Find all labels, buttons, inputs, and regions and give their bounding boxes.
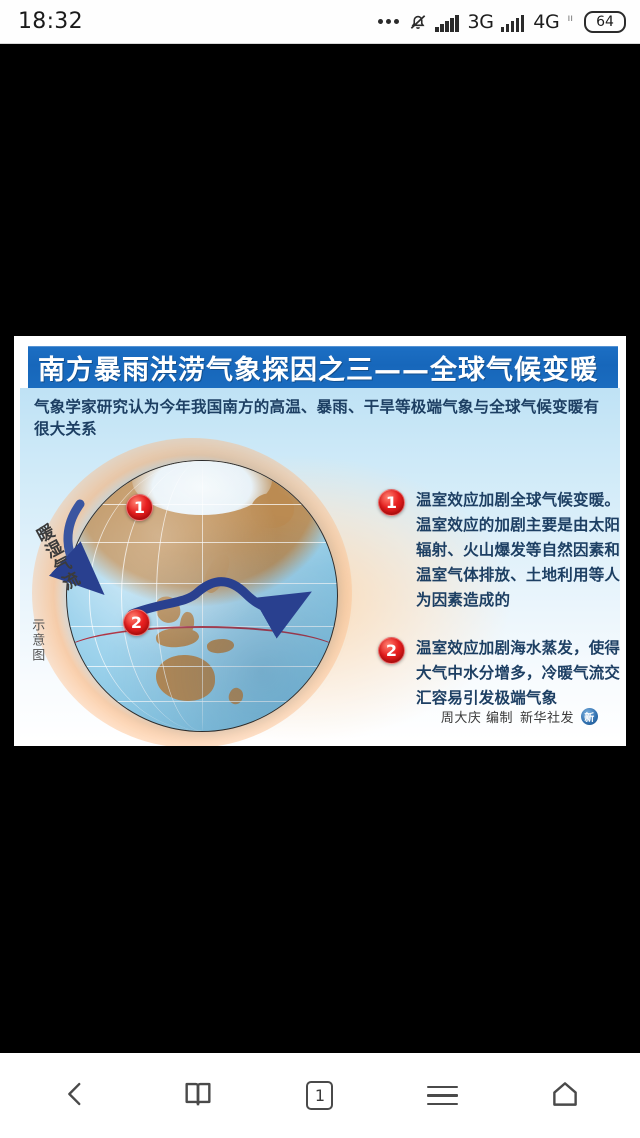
page-title: 南方暴雨洪涝气象探因之三——全球气候变暖 bbox=[38, 348, 598, 387]
battery-indicator: 64 bbox=[584, 11, 626, 33]
infographic-inner: 南方暴雨洪涝气象探因之三——全球气候变暖 气象学家研究认为今年我国南方的高温、暴… bbox=[20, 342, 620, 740]
globe-marker-2: 2 bbox=[123, 609, 150, 636]
chevron-left-icon bbox=[58, 1077, 92, 1115]
point-item: 1 温室效应加剧全球气候变暖。温室效应的加剧主要是由太阳辐射、火山爆发等自然因素… bbox=[378, 488, 626, 614]
schematic-label: 示意图 bbox=[28, 618, 44, 663]
infographic-title-banner: 南方暴雨洪涝气象探因之三——全球气候变暖 bbox=[28, 346, 618, 388]
point-number-badge: 2 bbox=[378, 637, 405, 664]
explanation-points: 1 温室效应加剧全球气候变暖。温室效应的加剧主要是由太阳辐射、火山爆发等自然因素… bbox=[378, 488, 626, 733]
network-type-1: 3G bbox=[468, 11, 494, 33]
credit-agency: 新华社发 bbox=[520, 707, 574, 726]
nav-tabs-button[interactable]: 1 bbox=[284, 1068, 356, 1124]
hamburger-menu-icon bbox=[427, 1086, 458, 1105]
status-bar-indicators: 3G 4G ıı 64 bbox=[378, 11, 626, 33]
status-bar: 18:32 3G 4G ıı 64 bbox=[0, 0, 640, 44]
book-open-icon bbox=[181, 1077, 215, 1115]
bell-muted-icon bbox=[408, 12, 428, 32]
point-item: 2 温室效应加剧海水蒸发，使得大气中水分增多，冷暖气流交汇容易引发极端气象 bbox=[378, 636, 626, 711]
network-sup-icon: ıı bbox=[567, 13, 573, 24]
more-dots-icon bbox=[378, 19, 399, 24]
xinhua-logo-icon: 新 bbox=[581, 708, 598, 725]
infographic-subtitle: 气象学家研究认为今年我国南方的高温、暴雨、干旱等极端气象与全球气候变暖有很大关系 bbox=[34, 396, 614, 441]
home-icon bbox=[548, 1077, 582, 1115]
airflow-arrows bbox=[50, 452, 350, 738]
point-text: 温室效应加剧海水蒸发，使得大气中水分增多，冷暖气流交汇容易引发极端气象 bbox=[416, 636, 626, 711]
page-content-area: 南方暴雨洪涝气象探因之三——全球气候变暖 气象学家研究认为今年我国南方的高温、暴… bbox=[0, 44, 640, 1053]
credit-author: 周大庆 编制 bbox=[441, 707, 513, 726]
nav-home-button[interactable] bbox=[529, 1068, 601, 1124]
globe-illustration bbox=[50, 452, 350, 738]
infographic-image[interactable]: 南方暴雨洪涝气象探因之三——全球气候变暖 气象学家研究认为今年我国南方的高温、暴… bbox=[14, 336, 626, 746]
point-text: 温室效应加剧全球气候变暖。温室效应的加剧主要是由太阳辐射、火山爆发等自然因素和温… bbox=[416, 488, 626, 614]
status-bar-clock: 18:32 bbox=[18, 9, 83, 34]
phone-screen: 18:32 3G 4G ıı 64 bbox=[0, 0, 640, 1138]
arrow-pacific-flow bbox=[132, 582, 290, 614]
credit-line: 周大庆 编制 新华社发 新 bbox=[441, 707, 598, 726]
nav-back-button[interactable] bbox=[39, 1068, 111, 1124]
nav-menu-button[interactable] bbox=[406, 1068, 478, 1124]
nav-bookmarks-button[interactable] bbox=[162, 1068, 234, 1124]
tab-count-icon: 1 bbox=[306, 1081, 333, 1110]
network-type-2: 4G bbox=[533, 11, 559, 33]
point-number-badge: 1 bbox=[378, 489, 405, 516]
browser-bottom-nav: 1 bbox=[0, 1053, 640, 1138]
globe-marker-1: 1 bbox=[126, 494, 153, 521]
signal-bars-icon-1 bbox=[435, 12, 459, 32]
signal-bars-icon-2 bbox=[501, 12, 525, 32]
